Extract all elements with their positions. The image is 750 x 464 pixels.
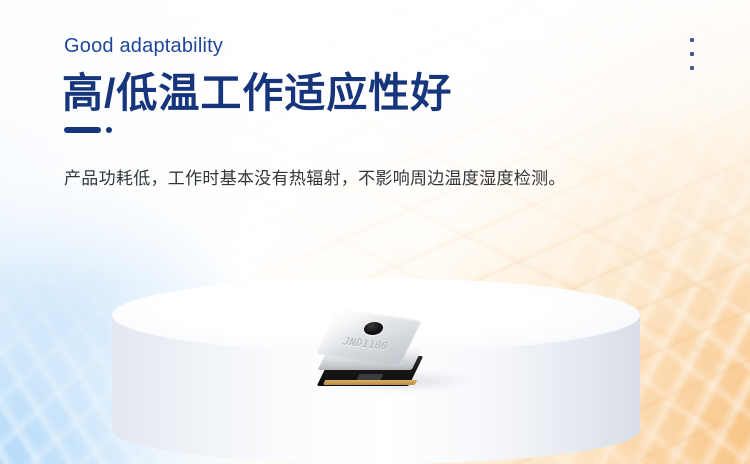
eyebrow-text: Good adaptability xyxy=(64,36,622,56)
kebab-dot-middle xyxy=(690,52,694,56)
divider-dot-icon xyxy=(106,127,112,133)
page-title: 高/低温工作适应性好 xyxy=(62,72,622,115)
kebab-menu-icon[interactable] xyxy=(684,38,700,70)
product-feature-banner: JND1100 Good adaptability 高/低温工作适应性好 产品功… xyxy=(0,0,750,464)
body-description: 产品功耗低，工作时基本没有热辐射，不影响周边温度湿度检测。 xyxy=(64,164,586,193)
sensor-pcb-gold-edge xyxy=(323,380,417,385)
text-content-block: Good adaptability 高/低温工作适应性好 产品功耗低，工作时基本… xyxy=(62,36,622,193)
kebab-dot-bottom xyxy=(690,66,694,70)
sensor-pcb-notch xyxy=(357,374,384,380)
decorative-divider xyxy=(64,127,622,133)
product-image-sensor: JND1100 xyxy=(318,312,424,392)
kebab-dot-top xyxy=(690,38,694,42)
divider-bar-icon xyxy=(64,127,101,133)
